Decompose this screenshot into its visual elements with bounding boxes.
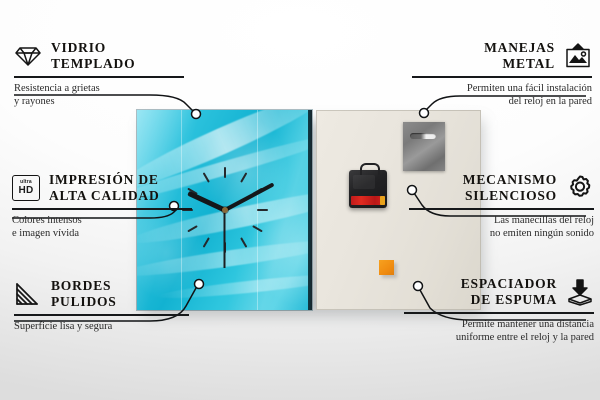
callout-divider — [14, 314, 189, 316]
diamond-icon — [14, 42, 42, 70]
callout-divider — [14, 76, 184, 78]
callout-description: Las manecillas del reloj no emiten ningú… — [409, 214, 594, 242]
picture-frame-hanger-icon — [564, 42, 592, 70]
callout-espaciador-de-espuma: ESPACIADOR DE ESPUMA Permite mantener un… — [404, 276, 594, 345]
metal-hanger-plate — [403, 122, 445, 171]
battery-terminal — [380, 196, 385, 205]
polished-edge-icon — [14, 280, 42, 308]
clock-center-hub — [222, 207, 228, 213]
gear-icon — [566, 174, 594, 202]
foam-spacer — [379, 260, 394, 275]
callout-description: Superficie lisa y segura — [14, 320, 189, 334]
callout-title: MANEJAS METAL — [484, 40, 555, 73]
callout-header: BORDES PULIDOS — [14, 278, 189, 311]
callout-bordes-pulidos: BORDES PULIDOS Superficie lisa y segura — [14, 278, 189, 333]
callout-description: Permite mantener una distancia uniforme … — [404, 318, 594, 346]
callout-description: Resistencia a grietas y rayones — [14, 82, 184, 110]
callout-title: ESPACIADOR DE ESPUMA — [461, 276, 557, 309]
callout-header: ESPACIADOR DE ESPUMA — [404, 276, 594, 309]
callout-divider — [12, 208, 192, 210]
movement-hanging-loop — [360, 163, 380, 175]
ultra-hd-icon: ultra HD — [12, 174, 40, 202]
movement-housing-detail — [353, 175, 375, 189]
callout-divider — [404, 312, 594, 314]
callout-title: MECANISMO SILENCIOSO — [463, 172, 557, 205]
callout-divider — [412, 76, 592, 78]
clock-second-hand — [224, 210, 226, 268]
callout-title: IMPRESIÓN DE ALTA CALIDAD — [49, 172, 160, 205]
callout-divider — [409, 208, 594, 210]
callout-vidrio-templado: VIDRIO TEMPLADO Resistencia a grietas y … — [14, 40, 184, 109]
callout-description: Permiten una fácil instalación del reloj… — [412, 82, 592, 110]
infographic-canvas: VIDRIO TEMPLADO Resistencia a grietas y … — [0, 0, 600, 400]
callout-mecanismo-silencioso: MECANISMO SILENCIOSO Las manecillas del … — [409, 172, 594, 241]
quartz-movement — [349, 170, 387, 208]
callout-header: ultra HD IMPRESIÓN DE ALTA CALIDAD — [12, 172, 192, 205]
callout-title: BORDES PULIDOS — [51, 278, 117, 311]
hanger-slot — [410, 133, 436, 139]
callout-impresion-alta-calidad: ultra HD IMPRESIÓN DE ALTA CALIDAD Color… — [12, 172, 192, 241]
callout-title: VIDRIO TEMPLADO — [51, 40, 135, 73]
callout-manejas-metal: MANEJAS METAL Permiten una fácil instala… — [412, 40, 592, 109]
clock-edge — [308, 110, 312, 310]
callout-header: MANEJAS METAL — [412, 40, 592, 73]
callout-header: VIDRIO TEMPLADO — [14, 40, 184, 73]
ultra-hd-icon-large-text: HD — [18, 186, 33, 196]
callout-header: MECANISMO SILENCIOSO — [409, 172, 594, 205]
callout-description: Colores intensos e imagen vívida — [12, 214, 192, 242]
foam-spacer-arrow-icon — [566, 278, 594, 306]
